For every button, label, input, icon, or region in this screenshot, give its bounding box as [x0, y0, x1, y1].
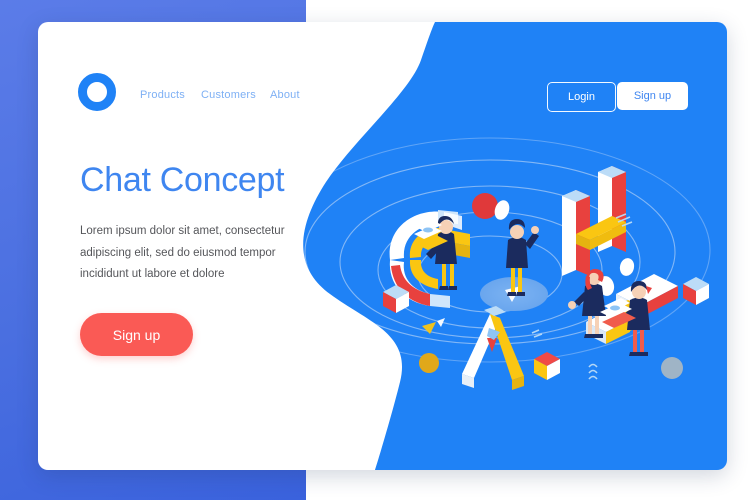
- nav-link-customers[interactable]: Customers: [201, 89, 256, 101]
- landing-page-card: Products Customers About Login Sign up C…: [38, 22, 727, 470]
- page-title: Chat Concept: [80, 162, 350, 199]
- nav-link-products[interactable]: Products: [140, 89, 185, 101]
- ring-logo-icon[interactable]: [78, 73, 116, 111]
- top-navigation-bar: Products Customers About Login Sign up: [38, 22, 727, 94]
- signup-header-button[interactable]: Sign up: [617, 82, 688, 110]
- nav-link-about[interactable]: About: [270, 89, 300, 101]
- login-button[interactable]: Login: [547, 82, 616, 112]
- hero-paragraph: Lorem ipsum dolor sit amet, consectetur …: [80, 221, 295, 285]
- hero-section: Chat Concept Lorem ipsum dolor sit amet,…: [80, 162, 350, 356]
- signup-cta-button[interactable]: Sign up: [80, 313, 193, 356]
